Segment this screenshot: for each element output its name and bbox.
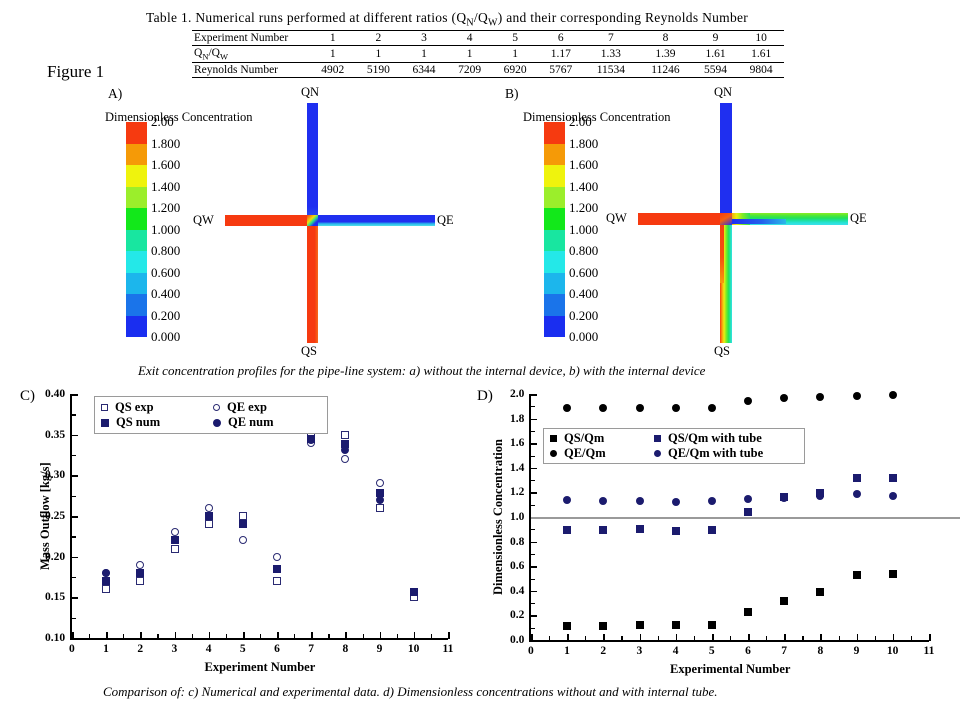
x-minor-tick — [260, 634, 261, 639]
legend-marker — [654, 450, 661, 457]
x-tick — [929, 634, 931, 641]
y-tick — [530, 542, 537, 544]
x-tick-label: 9 — [854, 645, 860, 657]
x-minor-tick — [549, 636, 550, 641]
pipe-underlay-east-b — [732, 219, 786, 224]
data-point — [273, 565, 281, 573]
x-tick — [893, 634, 895, 641]
legend-row: QS expQE exp — [101, 400, 319, 415]
x-tick-label: 0 — [69, 643, 75, 655]
colorbar-tick-label: 1.000 — [569, 222, 598, 238]
pipe-junction-a — [307, 215, 318, 226]
table-cell: 4 — [447, 31, 493, 46]
plot-legend[interactable]: QS expQE expQS numQE num — [94, 396, 328, 434]
table-cell: 1.17 — [538, 46, 584, 63]
x-tick-label: 0 — [528, 645, 534, 657]
x-tick-label: 3 — [637, 645, 643, 657]
x-tick — [567, 634, 569, 641]
data-point — [744, 608, 752, 616]
colorbar-band — [126, 165, 147, 187]
data-point — [636, 404, 644, 412]
legend-item[interactable]: QE/Qm with tube — [654, 446, 796, 461]
data-point — [636, 497, 644, 505]
figure-label: Figure 1 — [47, 62, 104, 82]
table-cell: 9 — [693, 31, 739, 46]
x-tick — [277, 632, 279, 639]
y-tick-label: 0.35 — [45, 429, 65, 441]
y-minor-tick — [530, 456, 535, 457]
x-tick — [676, 634, 678, 641]
numerical-runs-table: Experiment Number12345678910QN/QW111111.… — [192, 30, 784, 78]
colorbar-tick-label: 2.00 — [151, 114, 174, 130]
table-caption-post: ) and their corresponding Reynolds Numbe… — [498, 10, 748, 25]
colorbar-band — [126, 144, 147, 166]
reference-line — [531, 517, 960, 519]
pipe-segment-north-a — [307, 103, 318, 221]
colorbar-tick-label: 0.800 — [569, 243, 598, 259]
data-point — [708, 497, 716, 505]
legend-item[interactable]: QS/Qm — [550, 431, 654, 446]
y-tick-label: 0.0 — [510, 634, 524, 646]
table-cell: 5 — [492, 31, 538, 46]
legend-item[interactable]: QE num — [213, 415, 319, 430]
x-tick-label: 9 — [377, 643, 383, 655]
x-tick — [820, 634, 822, 641]
data-point — [376, 496, 384, 504]
colorbar-band — [544, 122, 565, 144]
y-tick — [530, 443, 537, 445]
table-caption-pre: Table 1. Numerical runs performed at dif… — [146, 10, 466, 25]
y-minor-tick — [71, 618, 76, 619]
table-cell: 1.33 — [584, 46, 639, 63]
x-tick — [603, 634, 605, 641]
colorbar-tick-label: 1.800 — [569, 136, 598, 152]
pipe-segment-north-b — [720, 103, 732, 221]
x-tick — [448, 632, 450, 639]
y-tick-label: 1.2 — [510, 486, 524, 498]
table-row: Experiment Number12345678910 — [192, 31, 784, 46]
x-minor-tick — [431, 634, 432, 639]
data-point — [636, 621, 644, 629]
data-point — [889, 474, 897, 482]
x-minor-tick — [123, 634, 124, 639]
legend-item[interactable]: QE exp — [213, 400, 319, 415]
data-point — [853, 571, 861, 579]
y-tick — [530, 468, 537, 470]
table-caption-sub-n: N — [466, 18, 474, 29]
colorbar-tick-label: 0.400 — [569, 286, 598, 302]
colorbar-tick-label: 1.400 — [151, 179, 180, 195]
table-cell: 6 — [538, 31, 584, 46]
data-point — [853, 474, 861, 482]
data-point — [273, 577, 281, 585]
table-cell: 5190 — [356, 63, 402, 78]
x-tick — [345, 632, 347, 639]
colorbar-band — [126, 187, 147, 209]
x-minor-tick — [658, 636, 659, 641]
port-label-east-a: QE — [437, 213, 454, 228]
data-point — [672, 527, 680, 535]
y-tick — [530, 492, 537, 494]
table-row-header: Reynolds Number — [192, 63, 310, 78]
y-minor-tick — [71, 455, 76, 456]
x-minor-tick — [911, 636, 912, 641]
table-cell: 7209 — [447, 63, 493, 78]
x-minor-tick — [363, 634, 364, 639]
y-minor-tick — [71, 414, 76, 415]
x-tick-label: 5 — [240, 643, 246, 655]
y-tick — [71, 475, 78, 477]
x-minor-tick — [766, 636, 767, 641]
data-point — [672, 498, 680, 506]
data-point — [744, 397, 752, 405]
y-tick — [530, 394, 537, 396]
port-label-east-b: QE — [850, 211, 867, 226]
y-tick — [71, 435, 78, 437]
x-minor-tick — [397, 634, 398, 639]
y-tick-label: 0.8 — [510, 536, 524, 548]
x-minor-tick — [585, 636, 586, 641]
table-caption-sub-w: W — [488, 18, 498, 29]
data-point — [708, 621, 716, 629]
y-minor-tick — [71, 577, 76, 578]
x-minor-tick — [694, 636, 695, 641]
pipe-segment-south-a — [307, 221, 318, 343]
x-tick-label: 1 — [103, 643, 109, 655]
y-tick-label: 1.4 — [510, 462, 524, 474]
table-row-header: Experiment Number — [192, 31, 310, 46]
x-tick-label: 5 — [709, 645, 715, 657]
colorbar-tick-label: 0.000 — [569, 329, 598, 345]
table-row: QN/QW111111.171.331.391.611.61 — [192, 46, 784, 63]
data-point — [889, 570, 897, 578]
table-cell: 7 — [584, 31, 639, 46]
data-point — [816, 588, 824, 596]
data-point — [205, 504, 213, 512]
legend-item[interactable]: QS/Qm with tube — [654, 431, 796, 446]
colorbar-tick-label: 0.200 — [151, 308, 180, 324]
colorbar-a — [126, 122, 147, 337]
port-label-north-a: QN — [301, 85, 319, 100]
table-cell: 1 — [310, 46, 356, 63]
data-point — [853, 490, 861, 498]
x-tick-label: 10 — [408, 643, 420, 655]
colorbar-b — [544, 122, 565, 337]
panel-letter-b: B) — [505, 86, 519, 102]
y-axis-title: Mass Outflow [kg/s] — [38, 462, 53, 570]
y-minor-tick — [530, 431, 535, 432]
data-point — [239, 520, 247, 528]
data-point — [205, 520, 213, 528]
y-tick — [71, 516, 78, 518]
colorbar-band — [544, 294, 565, 316]
data-point — [239, 512, 247, 520]
legend-label: QS exp — [115, 400, 154, 415]
x-minor-tick — [157, 634, 158, 639]
y-minor-tick — [530, 529, 535, 530]
table-cell: 8 — [638, 31, 693, 46]
y-minor-tick — [530, 406, 535, 407]
x-tick-label: 8 — [817, 645, 823, 657]
data-point — [563, 622, 571, 630]
x-tick — [640, 634, 642, 641]
colorbar-band — [126, 208, 147, 230]
table-row-header: QN/QW — [192, 46, 310, 63]
table-cell: 1 — [356, 46, 402, 63]
y-tick — [71, 557, 78, 559]
y-minor-tick — [530, 579, 535, 580]
port-label-south-a: QS — [301, 344, 317, 359]
port-label-north-b: QN — [714, 85, 732, 100]
data-point — [672, 621, 680, 629]
y-tick-label: 1.0 — [510, 511, 524, 523]
y-tick — [530, 566, 537, 568]
y-tick-label: 0.15 — [45, 591, 65, 603]
legend-marker — [101, 404, 108, 411]
pipe-diagram-b: QN QW QE QS — [608, 85, 908, 375]
legend-label: QS num — [116, 415, 160, 430]
pipe-segment-west-b — [638, 213, 724, 225]
data-point — [205, 512, 213, 520]
table-cell: 1 — [492, 46, 538, 63]
table-cell: 2 — [356, 31, 402, 46]
x-minor-tick — [226, 634, 227, 639]
colorbar-tick-label: 0.200 — [569, 308, 598, 324]
colorbar-band — [544, 273, 565, 295]
x-tick — [311, 632, 313, 639]
legend-row: QE/QmQE/Qm with tube — [550, 446, 796, 461]
y-tick — [530, 615, 537, 617]
x-tick — [243, 632, 245, 639]
x-tick-label: 7 — [781, 645, 787, 657]
colorbar-band — [126, 316, 147, 338]
data-point — [376, 504, 384, 512]
x-tick-label: 11 — [443, 643, 454, 655]
x-axis-title: Experiment Number — [205, 660, 316, 675]
y-tick-label: 0.2 — [510, 609, 524, 621]
x-tick — [712, 634, 714, 641]
x-tick-label: 11 — [924, 645, 935, 657]
legend-marker — [654, 435, 661, 442]
colorbar-band — [544, 251, 565, 273]
x-minor-tick — [802, 636, 803, 641]
colorbar-band — [544, 165, 565, 187]
legend-marker — [213, 419, 221, 427]
data-point — [599, 526, 607, 534]
x-tick-label: 8 — [342, 643, 348, 655]
x-tick-label: 2 — [137, 643, 143, 655]
colorbar-tick-label: 1.400 — [569, 179, 598, 195]
x-tick — [857, 634, 859, 641]
data-point — [744, 495, 752, 503]
y-minor-tick — [71, 496, 76, 497]
data-point — [102, 585, 110, 593]
table-cell: 1 — [310, 31, 356, 46]
port-label-west-a: QW — [193, 213, 214, 228]
x-minor-tick — [89, 634, 90, 639]
legend-label: QS/Qm with tube — [668, 431, 762, 446]
data-point — [636, 525, 644, 533]
table-cell: 1.39 — [638, 46, 693, 63]
x-tick — [748, 634, 750, 641]
data-point — [410, 588, 418, 596]
table-caption-mid: /Q — [474, 10, 488, 25]
x-minor-tick — [328, 634, 329, 639]
legend-marker — [550, 450, 557, 457]
x-tick — [106, 632, 108, 639]
x-minor-tick — [294, 634, 295, 639]
data-point — [780, 597, 788, 605]
x-tick-label: 7 — [308, 643, 314, 655]
table-cell: 10 — [738, 31, 784, 46]
y-tick-label: 1.8 — [510, 413, 524, 425]
y-minor-tick — [530, 505, 535, 506]
colorbar-band — [544, 187, 565, 209]
x-tick — [140, 632, 142, 639]
y-tick-label: 0.6 — [510, 560, 524, 572]
table-cell: 1.61 — [738, 46, 784, 63]
colorbar-tick-label: 1.800 — [151, 136, 180, 152]
pipe-segment-west-a — [225, 215, 312, 226]
colorbar-tick-label: 0.800 — [151, 243, 180, 259]
y-tick-label: 0.10 — [45, 632, 65, 644]
colorbar-tick-label: 1.600 — [151, 157, 180, 173]
y-minor-tick — [530, 554, 535, 555]
x-minor-tick — [192, 634, 193, 639]
x-tick — [784, 634, 786, 641]
y-minor-tick — [530, 480, 535, 481]
pipe-diagram-a: QN QW QE QS — [190, 85, 490, 375]
legend-item[interactable]: QE/Qm — [550, 446, 654, 461]
table-cell: 5767 — [538, 63, 584, 78]
table-cell: 1 — [401, 46, 447, 63]
legend-label: QE/Qm — [564, 446, 606, 461]
data-point — [171, 528, 179, 536]
y-minor-tick — [71, 536, 76, 537]
data-point — [136, 577, 144, 585]
legend-label: QS/Qm — [564, 431, 604, 446]
table-cell: 1 — [447, 46, 493, 63]
x-tick-label: 6 — [745, 645, 751, 657]
legend-marker — [101, 419, 109, 427]
legend-marker — [213, 404, 220, 411]
colorbar-tick-label: 1.600 — [569, 157, 598, 173]
data-point — [672, 404, 680, 412]
y-tick — [530, 591, 537, 593]
data-point — [744, 508, 752, 516]
x-tick-label: 6 — [274, 643, 280, 655]
y-tick — [71, 638, 78, 640]
data-point — [599, 497, 607, 505]
plot-legend[interactable]: QS/QmQS/Qm with tubeQE/QmQE/Qm with tube — [543, 428, 805, 464]
legend-label: QE/Qm with tube — [668, 446, 763, 461]
legend-marker — [550, 435, 557, 442]
x-tick-label: 4 — [673, 645, 679, 657]
table-cell: 4902 — [310, 63, 356, 78]
data-point — [102, 577, 110, 585]
scatter-plot-d: 012345678910110.00.20.40.60.81.01.21.41.… — [485, 386, 955, 676]
y-tick — [530, 640, 537, 642]
data-point — [171, 536, 179, 544]
colorbar-band — [544, 316, 565, 338]
data-point — [889, 492, 897, 500]
data-point — [171, 545, 179, 553]
pipe-streak-south-b — [720, 219, 724, 283]
colorbar-tick-label: 0.600 — [569, 265, 598, 281]
data-point — [273, 553, 281, 561]
data-point — [599, 622, 607, 630]
x-tick — [414, 632, 416, 639]
colorbar-band — [544, 208, 565, 230]
legend-label: QE exp — [227, 400, 267, 415]
caption-bottom: Comparison of: c) Numerical and experime… — [103, 684, 718, 700]
data-point — [563, 526, 571, 534]
colorbar-band — [126, 251, 147, 273]
y-tick — [71, 394, 78, 396]
x-tick-label: 10 — [887, 645, 899, 657]
table-cell: 3 — [401, 31, 447, 46]
table-cell: 9804 — [738, 63, 784, 78]
colorbar-band — [544, 144, 565, 166]
panel-letter-a: A) — [108, 86, 122, 102]
x-tick-label: 1 — [564, 645, 570, 657]
legend-label: QE num — [228, 415, 274, 430]
table-caption: Table 1. Numerical runs performed at dif… — [146, 10, 958, 29]
table-cell: 6344 — [401, 63, 447, 78]
pipe-segment-east-a — [310, 215, 435, 226]
port-label-west-b: QW — [606, 211, 627, 226]
y-tick-label: 0.40 — [45, 388, 65, 400]
colorbar-tick-label: 2.00 — [569, 114, 592, 130]
legend-row: QS numQE num — [101, 415, 319, 430]
y-tick-label: 0.4 — [510, 585, 524, 597]
x-axis-title: Experimental Number — [670, 662, 790, 677]
colorbar-tick-label: 1.200 — [569, 200, 598, 216]
table-row: Reynolds Number4902519063447209692057671… — [192, 63, 784, 78]
legend-item[interactable]: QS exp — [101, 400, 213, 415]
colorbar-band — [126, 273, 147, 295]
table1: Experiment Number12345678910QN/QW111111.… — [192, 30, 784, 78]
colorbar-tick-label: 0.400 — [151, 286, 180, 302]
y-axis-title: Dimensionless Concentration — [491, 439, 506, 595]
scatter-plot-c: 012345678910110.100.150.200.250.300.350.… — [28, 386, 468, 676]
y-tick-label: 1.6 — [510, 437, 524, 449]
y-tick — [71, 597, 78, 599]
x-tick-label: 4 — [206, 643, 212, 655]
colorbar-tick-label: 0.000 — [151, 329, 180, 345]
table-cell: 5594 — [693, 63, 739, 78]
colorbar-tick-label: 1.200 — [151, 200, 180, 216]
x-tick-label: 2 — [600, 645, 606, 657]
legend-row: QS/QmQS/Qm with tube — [550, 431, 796, 446]
legend-item[interactable]: QS num — [101, 415, 213, 430]
x-minor-tick — [875, 636, 876, 641]
colorbar-band — [544, 230, 565, 252]
data-point — [708, 526, 716, 534]
caption-middle: Exit concentration profiles for the pipe… — [138, 363, 705, 379]
data-point — [853, 392, 861, 400]
colorbar-tick-label: 1.000 — [151, 222, 180, 238]
x-tick — [380, 632, 382, 639]
y-minor-tick — [530, 603, 535, 604]
x-minor-tick — [839, 636, 840, 641]
port-label-south-b: QS — [714, 344, 730, 359]
colorbar-band — [126, 122, 147, 144]
x-tick-label: 3 — [172, 643, 178, 655]
x-minor-tick — [621, 636, 622, 641]
y-minor-tick — [530, 628, 535, 629]
y-tick-label: 2.0 — [510, 388, 524, 400]
